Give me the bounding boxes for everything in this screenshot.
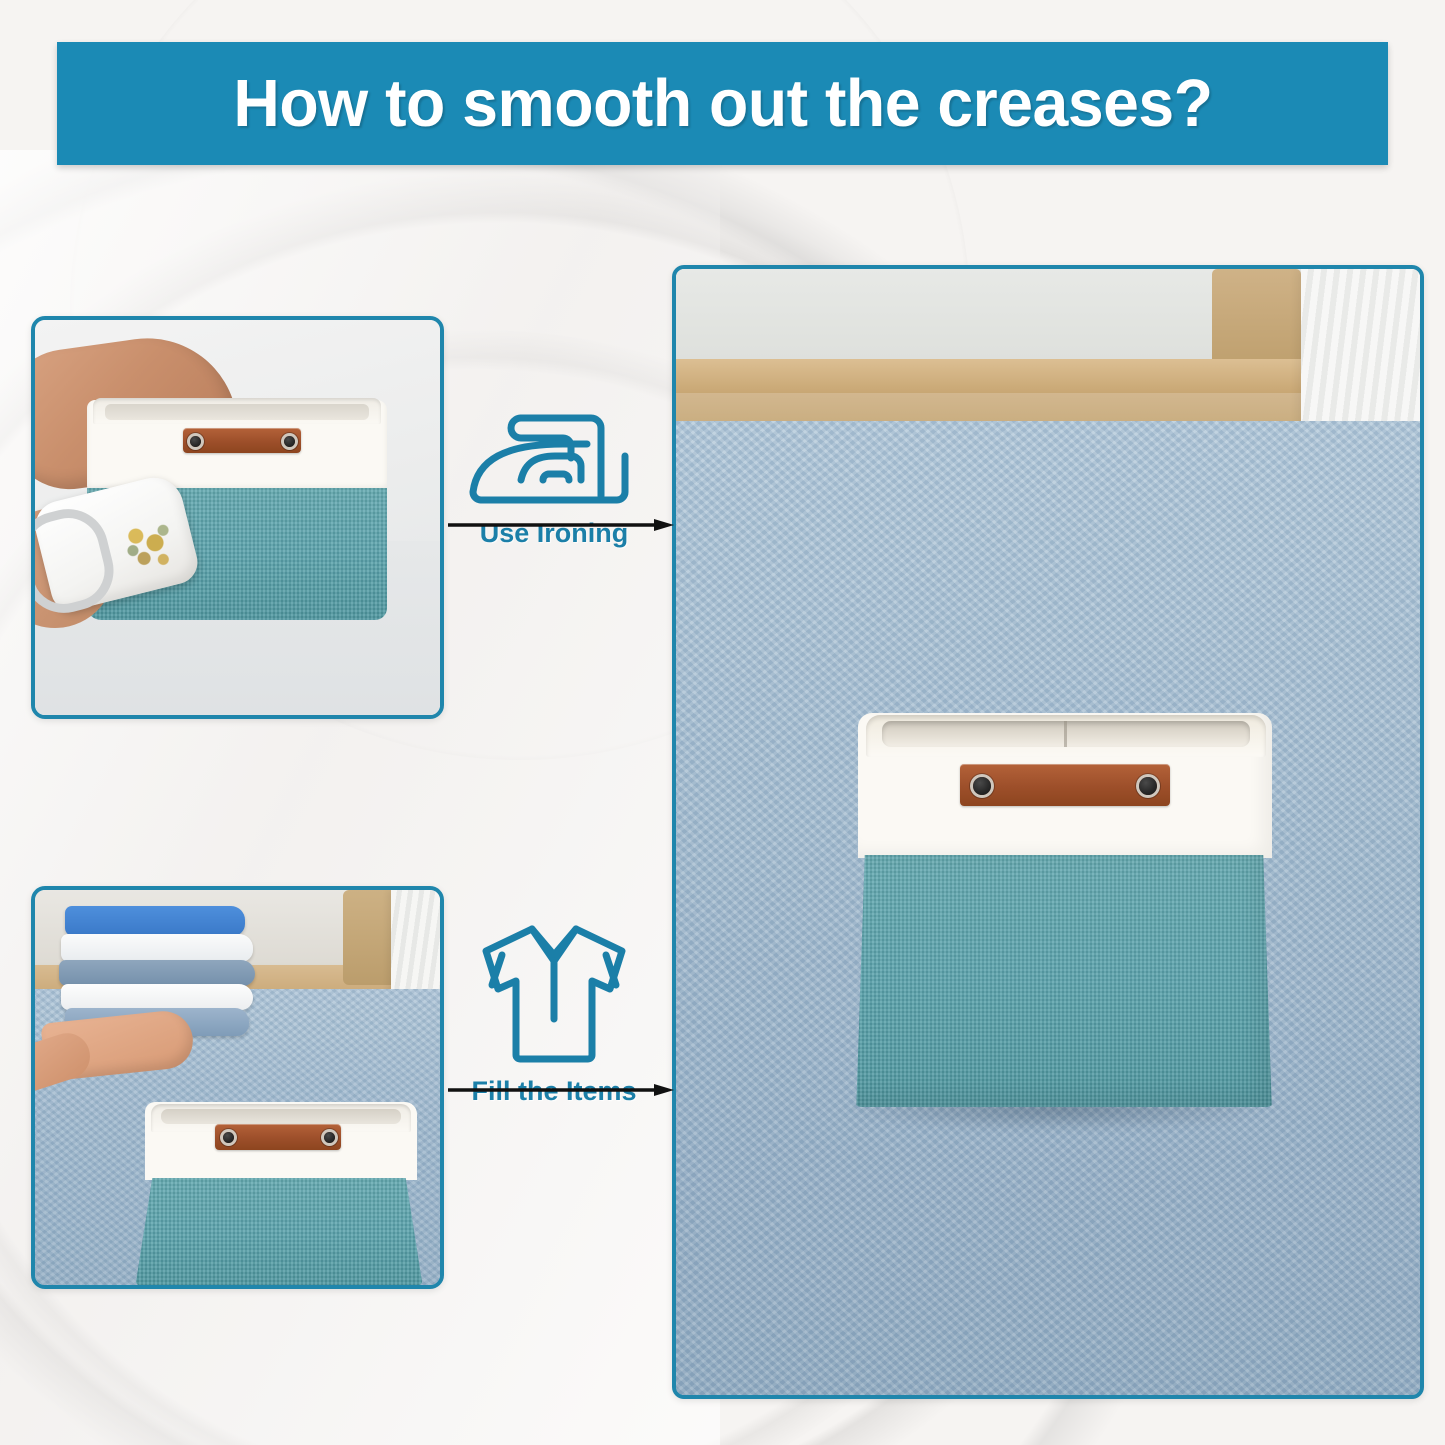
photo-panel-use-ironing <box>31 316 444 719</box>
basket-interior <box>161 1109 401 1124</box>
title-banner: How to smooth out the creases? <box>57 42 1388 165</box>
folded-item-blue <box>65 906 245 936</box>
grommet-left <box>190 436 201 447</box>
basket-teal-body <box>135 1178 423 1285</box>
photo-main-product <box>676 269 1420 1395</box>
arrow-to-main-fill-the-items <box>448 1083 674 1097</box>
grommet-left <box>223 1132 234 1143</box>
photo-panel-fill-the-items <box>31 886 444 1289</box>
iron-icon <box>459 400 649 512</box>
grommet-right <box>324 1132 335 1143</box>
grommet-left <box>973 777 991 795</box>
step-fill-the-items: Fill the Items <box>442 915 666 1107</box>
photo-fill-the-items <box>35 890 440 1285</box>
basket-interior-divider <box>1064 721 1067 747</box>
photo-use-ironing <box>35 320 440 715</box>
page-title: How to smooth out the creases? <box>233 70 1212 137</box>
photo-panel-main-product <box>672 265 1424 1399</box>
grommet-right <box>1139 777 1157 795</box>
folded-item-white <box>61 934 253 962</box>
infographic-canvas: How to smooth out the creases? <box>0 0 1445 1445</box>
basket-interior <box>105 404 369 420</box>
folded-item-grey <box>59 960 255 986</box>
folded-item-white-2 <box>61 984 253 1010</box>
grommet-right <box>284 436 295 447</box>
arrow-to-main-use-ironing <box>448 518 674 532</box>
basket-teal-body <box>852 855 1276 1107</box>
iron-floral-decal <box>115 511 185 584</box>
polo-shirt-icon <box>464 915 644 1070</box>
